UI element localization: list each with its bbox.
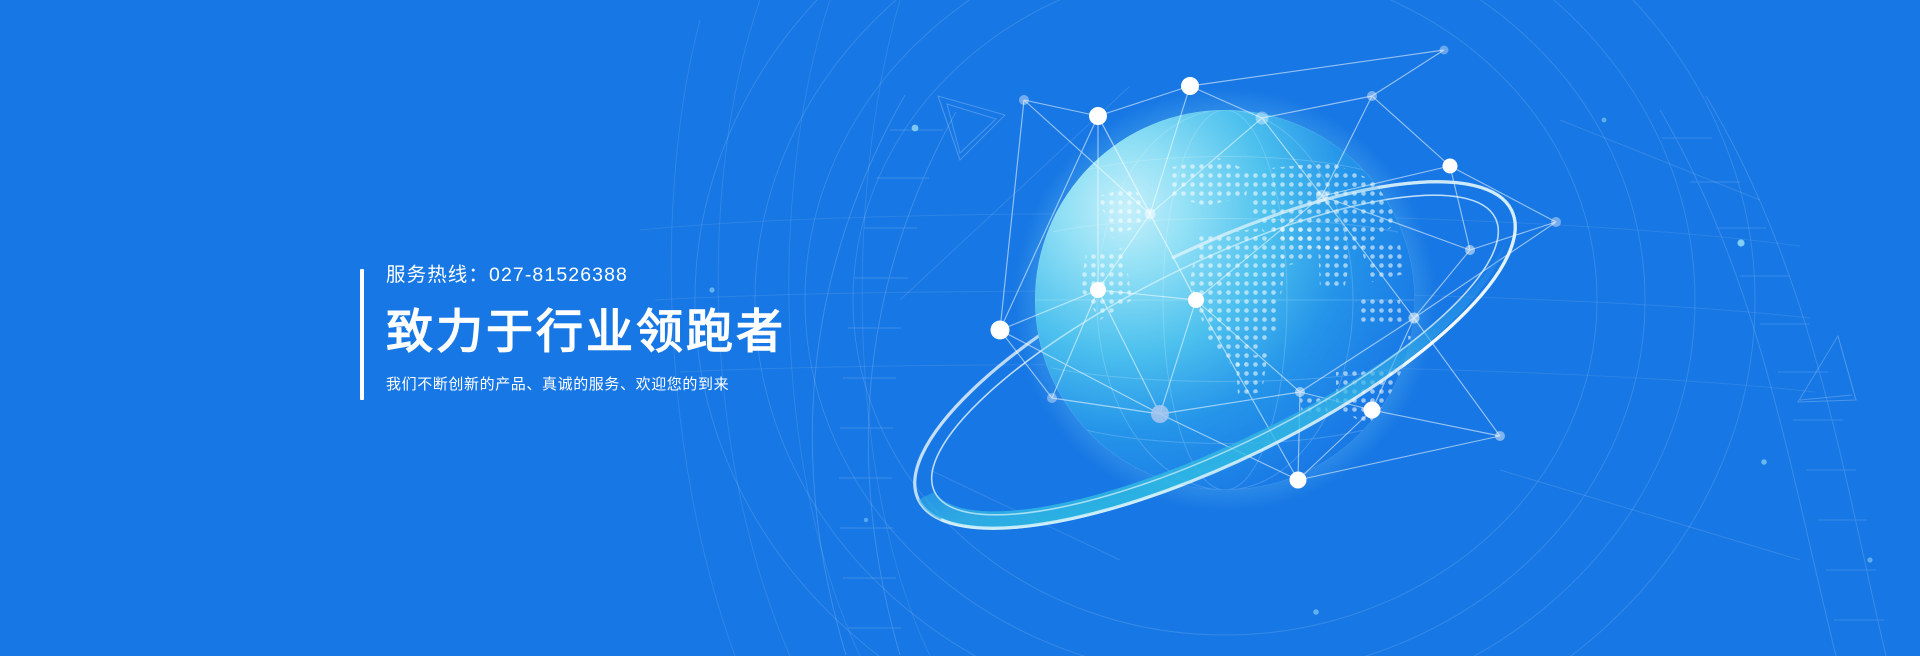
network-mesh-nodes bbox=[991, 46, 1562, 489]
background-dots bbox=[709, 118, 1872, 615]
orbital-ring-front bbox=[872, 115, 1558, 595]
banner-headline: 致力于行业领跑者 bbox=[386, 301, 786, 363]
globe-sphere bbox=[1035, 110, 1415, 490]
hero-banner: 服务热线：027-81526388 致力于行业领跑者 我们不断创新的产品、真诚的… bbox=[0, 0, 1920, 656]
service-hotline: 服务热线：027-81526388 bbox=[386, 262, 786, 288]
network-mesh-lines bbox=[1000, 50, 1556, 480]
vertical-accent-bar bbox=[360, 269, 364, 400]
orbital-ring-back bbox=[872, 115, 1558, 595]
background-decoration bbox=[0, 0, 1920, 656]
wireframe-triangle-left bbox=[938, 96, 1005, 160]
banner-text-block: 服务热线：027-81526388 致力于行业领跑者 我们不断创新的产品、真诚的… bbox=[360, 262, 786, 402]
banner-subtitle: 我们不断创新的产品、真诚的服务、欢迎您的到来 bbox=[386, 374, 786, 396]
wireframe-triangle-right bbox=[1798, 336, 1856, 402]
dotted-world-map bbox=[1035, 110, 1430, 490]
globe-network-illustration bbox=[0, 0, 1920, 656]
